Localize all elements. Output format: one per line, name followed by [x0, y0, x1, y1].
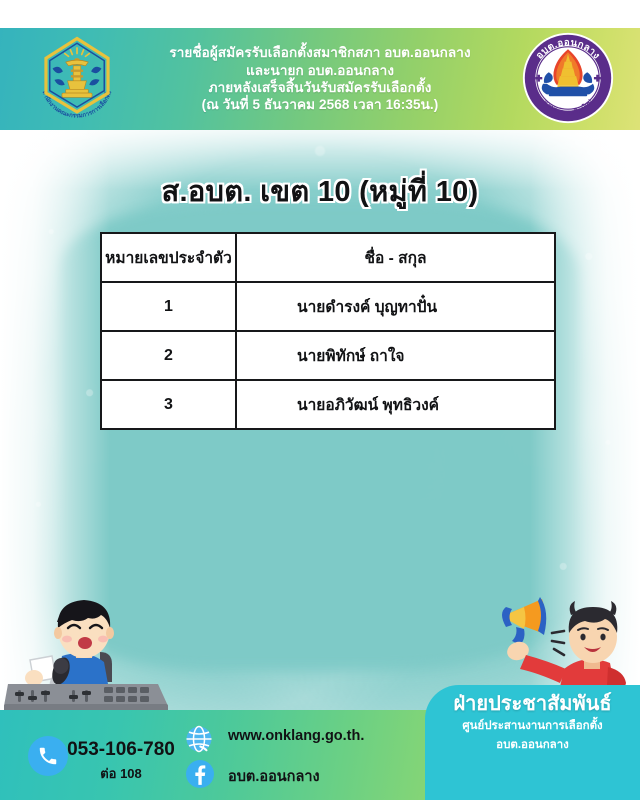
website-url[interactable]: www.onklang.go.th. — [228, 728, 364, 744]
radio-announcer-illustration — [0, 586, 178, 722]
ect-thailand-emblem-icon: สำนักงานคณะกรรมการการเลือกตั้ง — [30, 31, 124, 125]
table-row: 3 นายอภิวัฒน์ พุทธิวงค์ — [101, 380, 555, 429]
column-header-number: หมายเลขประจำตัว — [101, 233, 236, 282]
candidate-name: นายพิทักษ์ ถาใจ — [236, 331, 555, 380]
candidates-table-container: หมายเลขประจำตัว ชื่อ - สกุล 1 นายดำรงค์ … — [100, 232, 556, 430]
pr-subtitle-line-1: ศูนย์ประสานงานการเลือกตั้ง — [425, 718, 640, 735]
contact-info-group: 053-106-780 ต่อ 108 www.onklang.go.th. — [0, 710, 430, 800]
candidate-name: นายดำรงค์ บุญทาปั๋น — [236, 282, 555, 331]
pr-title: ฝ่ายประชาสัมพันธ์ — [425, 693, 640, 716]
table-row: 1 นายดำรงค์ บุญทาปั๋น — [101, 282, 555, 331]
candidate-name: นายอภิวัฒน์ พุทธิวงค์ — [236, 380, 555, 429]
header-line-1: รายชื่อผู้สมัครรับเลือกตั้งสมาชิกสภา อบต… — [169, 44, 470, 61]
candidate-number: 3 — [101, 380, 236, 429]
facebook-icon[interactable] — [186, 760, 214, 788]
page-title: ส.อบต. เขต 10 (หมู่ที่ 10) — [0, 168, 640, 214]
globe-icon[interactable] — [184, 724, 214, 754]
phone-glyph — [37, 745, 59, 767]
candidate-number: 1 — [101, 282, 236, 331]
pr-subtitle-line-2: อบต.ออนกลาง — [425, 737, 640, 754]
facebook-page-name[interactable]: อบต.ออนกลาง — [228, 765, 320, 788]
table-header-row: หมายเลขประจำตัว ชื่อ - สกุล — [101, 233, 555, 282]
obt-onklang-seal-icon: อบต.ออนกลาง อ.แม่ออน จ.เชียงใหม่ — [520, 30, 616, 126]
footer-bar: 053-106-780 ต่อ 108 www.onklang.go.th. — [0, 710, 640, 800]
candidates-table: หมายเลขประจำตัว ชื่อ - สกุล 1 นายดำรงค์ … — [100, 232, 556, 430]
facebook-glyph — [187, 761, 213, 787]
column-header-name: ชื่อ - สกุล — [236, 233, 555, 282]
header-line-3: ภายหลังเสร็จสิ้นวันรับสมัครรับเลือกตั้ง — [169, 79, 470, 96]
phone-extension: ต่อ 108 — [62, 763, 180, 784]
phone-number: 053-106-780 — [62, 739, 180, 761]
table-row: 2 นายพิทักษ์ ถาใจ — [101, 331, 555, 380]
poster-canvas: รายชื่อผู้สมัครรับเลือกตั้งสมาชิกสภา อบต… — [0, 0, 640, 800]
header-title-block: รายชื่อผู้สมัครรับเลือกตั้งสมาชิกสภา อบต… — [61, 44, 578, 113]
candidate-number: 2 — [101, 331, 236, 380]
pr-department-panel: ฝ่ายประชาสัมพันธ์ ศูนย์ประสานงานการเลือก… — [425, 685, 640, 800]
header-line-2: และนายก อบต.ออนกลาง — [169, 62, 470, 79]
globe-glyph — [184, 724, 214, 754]
header-line-4: (ณ วันที่ 5 ธันวาคม 2568 เวลา 16:35น.) — [169, 96, 470, 113]
